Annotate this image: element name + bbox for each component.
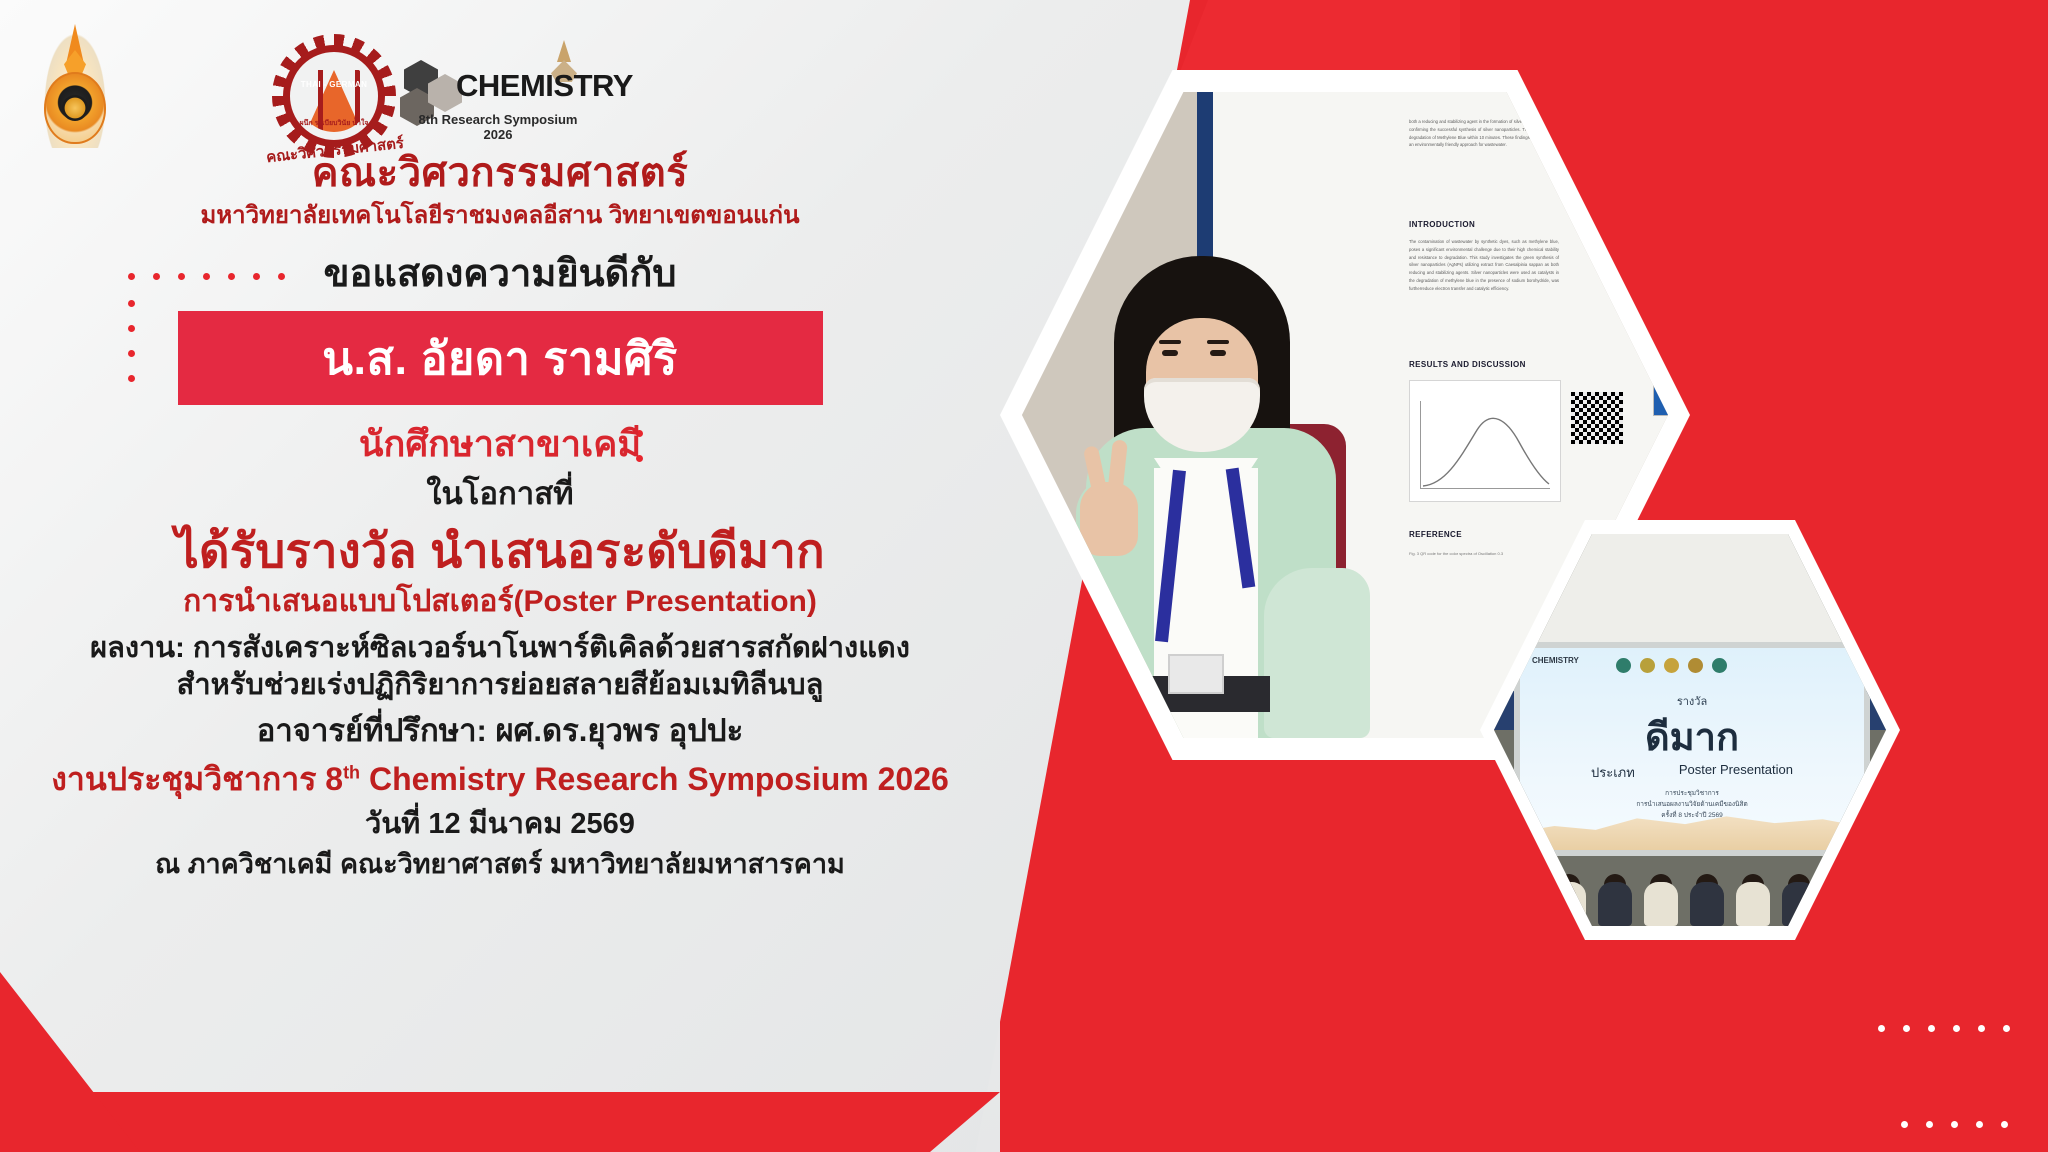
poster-fig3-caption: Fig. 3 QR code for the color spectra of …: [1409, 550, 1559, 558]
id-badge: [1168, 654, 1224, 694]
eyebrow-right: [1207, 340, 1229, 344]
work-title-line-1: ผลงาน: การสังเคราะห์ซิลเวอร์นาโนพาร์ติเค…: [0, 630, 1000, 667]
thai-german-label: THAI - GERMAN: [272, 80, 396, 89]
event-date: วันที่ 12 มีนาคม 2569: [0, 807, 1000, 841]
poster-reference-heading: REFERENCE: [1409, 530, 1462, 539]
occasion-text: ในโอกาสที่: [0, 476, 1000, 512]
slide-category-value: Poster Presentation: [1679, 762, 1793, 783]
poster-introduction-heading: INTRODUCTION: [1409, 220, 1475, 229]
chemistry-symposium-logo: CHEMISTRY 8th Research Symposium 2026: [400, 54, 590, 154]
seal-emblem-icon: [44, 72, 106, 144]
curve-path-icon: [1421, 400, 1551, 488]
slide-chemistry-logo: CHEMISTRY: [1532, 656, 1579, 665]
university-subtitle: มหาวิทยาลัยเทคโนโลยีราชมงคลอีสาน วิทยาเข…: [0, 202, 1000, 231]
eyebrow-left: [1159, 340, 1181, 344]
slide-category-row: ประเภท Poster Presentation: [1520, 762, 1864, 783]
slide-award-value: ดีมาก: [1520, 706, 1864, 767]
award-slide-photo: CHEMISTRY รางวัล ดีมาก ประเภท Poster Pre…: [1494, 534, 1886, 926]
event-venue: ณ ภาควิชาเคมี คณะวิทยาศาสตร์ มหาวิทยาลัย…: [0, 849, 1000, 881]
slide-meta: การประชุมวิชาการ การนำเสนอผลงานวิจัยด้าน…: [1520, 788, 1864, 821]
chemistry-subtitle: 8th Research Symposium 2026: [406, 112, 590, 142]
event-name-prefix: งานประชุมวิชาการ 8: [51, 761, 343, 797]
faculty-title: คณะวิศวกรรมศาสตร์: [0, 150, 1000, 196]
faculty-of-engineering-logo: THAI - GERMAN ผนึก ระเบียบวินัย น้ำใจ คณ…: [272, 34, 400, 162]
event-name-ordinal: th: [343, 763, 360, 783]
slide-meta-line-2: การนำเสนอผลงานวิจัยด้านเคมีของนิสิต: [1520, 799, 1864, 810]
congratulations-text: ขอแสดงความยินดีกับ: [0, 253, 1000, 297]
poster-results-heading: RESULTS AND DISCUSSION: [1409, 360, 1526, 369]
event-name-suffix: Chemistry Research Symposium 2026: [360, 761, 949, 797]
slide-meta-line-3: ครั้งที่ 8 ประจำปี 2569: [1520, 810, 1864, 821]
work-title-line-2: สำหรับช่วยเร่งปฏิกิริยาการย่อยสลายสีย้อม…: [0, 667, 1000, 704]
advisor-line: อาจารย์ที่ปรึกษา: ผศ.ดร.ยุวพร อุปปะ: [0, 712, 1000, 749]
logo-row: THAI - GERMAN ผนึก ระเบียบวินัย น้ำใจ คณ…: [0, 16, 980, 166]
poster-spectrum-chart: [1409, 380, 1561, 502]
presentation-type: การนำเสนอแบบโปสเตอร์(Poster Presentation…: [0, 585, 1000, 620]
engineering-motto: ผนึก ระเบียบวินัย น้ำใจ: [272, 118, 396, 129]
event-name: งานประชุมวิชาการ 8th Chemistry Research …: [0, 761, 1000, 799]
uv-vis-curve: [1420, 401, 1550, 489]
text-column: คณะวิศวกรรมศาสตร์ มหาวิทยาลัยเทคโนโลยีรา…: [0, 150, 1000, 881]
slide-partner-logos: [1616, 658, 1727, 673]
eye-right: [1210, 350, 1226, 356]
slide-meta-line-1: การประชุมวิชาการ: [1520, 788, 1864, 799]
auditorium-scene: CHEMISTRY รางวัล ดีมาก ประเภท Poster Pre…: [1494, 534, 1886, 926]
projection-screen: CHEMISTRY รางวัล ดีมาก ประเภท Poster Pre…: [1514, 642, 1870, 856]
red-bottom-bar: [0, 1092, 1000, 1152]
poster-qr-code: [1571, 392, 1623, 444]
tote-bag: [1264, 568, 1370, 738]
congratulations-poster: THAI - GERMAN ผนึก ระเบียบวินัย น้ำใจ คณ…: [0, 0, 2048, 1152]
rmuti-seal-logo: [40, 24, 112, 154]
poster-introduction-text: The contamination of wastewater by synth…: [1409, 238, 1559, 292]
awardee-name-band: น.ส. อัยดา รามศิริ: [178, 311, 823, 405]
awardee-major: นักศึกษาสาขาเคมี: [0, 423, 1000, 464]
awardee-name: น.ส. อัยดา รามศิริ: [322, 322, 677, 394]
dot-ornament-bottom-right-2: [1878, 1025, 2010, 1032]
dot-ornament-bottom-right: [1901, 1121, 2008, 1128]
slide-category-label: ประเภท: [1591, 762, 1635, 783]
eye-left: [1162, 350, 1178, 356]
award-title: ได้รับรางวัล นำเสนอระดับดีมาก: [0, 524, 1000, 578]
chemistry-wordmark: CHEMISTRY: [456, 68, 633, 104]
